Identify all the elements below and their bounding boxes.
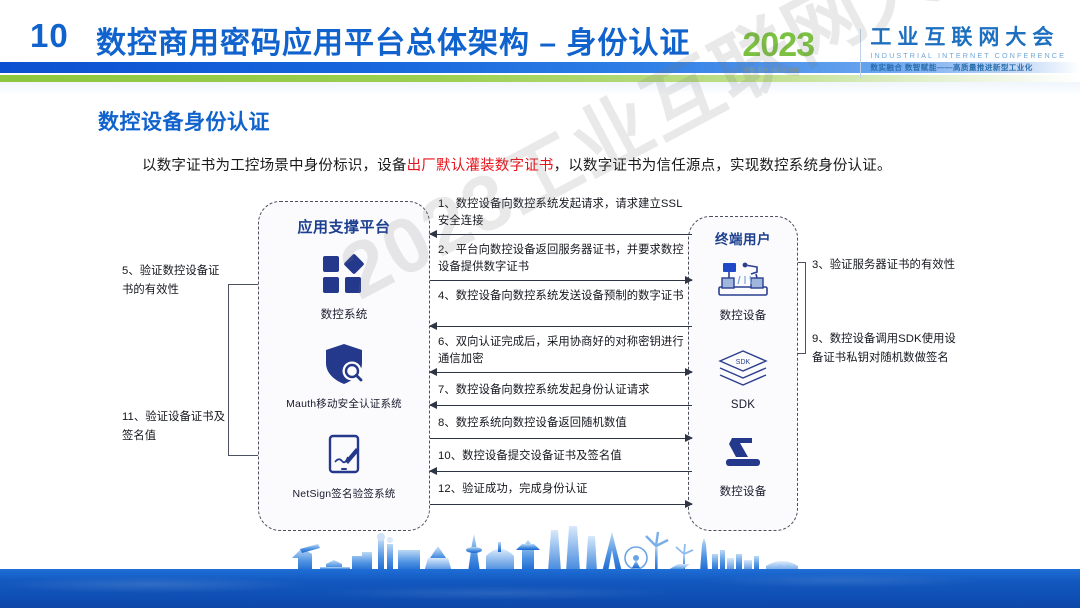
flow-step-1-label: 1、数控设备向数控系统发起请求，请求建立SSL安全连接 bbox=[438, 196, 690, 230]
node-sdk: SDK SDK bbox=[689, 349, 797, 411]
lead-highlight: 出厂默认灌装数字证书 bbox=[407, 158, 554, 174]
flow-arrow-4 bbox=[430, 326, 692, 327]
right-panel-title: 终端用户 bbox=[689, 228, 797, 248]
conference-logo: 2023 中国·苏州 8月18-19日 工业互联网大会 INDUSTRIAL I… bbox=[740, 26, 1066, 82]
logo-year: 2023 bbox=[740, 26, 858, 64]
flow-step-4-label: 4、数控设备向数控系统发送设备预制的数字证书 bbox=[438, 288, 690, 305]
logo-divider bbox=[860, 29, 861, 78]
left-panel-title: 应用支撑平台 bbox=[259, 216, 429, 237]
node-cnc-device-1-label: 数控设备 bbox=[689, 307, 797, 323]
note-step-9: 9、数控设备调用SDK使用设备证书私钥对随机数做签名 bbox=[812, 330, 962, 368]
logo-date: 中国·苏州 8月18-19日 bbox=[740, 66, 858, 74]
node-mauth: Mauth移动安全认证系统 bbox=[259, 342, 429, 411]
section-lead: 以数字证书为工控场景中身份标识，设备出厂默认灌装数字证书，以数字证书为信任源点，… bbox=[142, 154, 1022, 175]
cnc-machine-icon bbox=[715, 259, 771, 302]
note-step-11: 11、验证设备证书及签名值 bbox=[122, 408, 226, 446]
end-user-panel: 终端用户 数控设备 bbox=[688, 216, 798, 531]
flow-arrow-8 bbox=[430, 438, 692, 439]
footer-decoration bbox=[0, 528, 1080, 608]
note-step-5: 5、验证数控设备证书的有效性 bbox=[122, 262, 226, 300]
flow-step-12-label: 12、验证成功，完成身份认证 bbox=[438, 481, 690, 498]
logo-name-cn: 工业互联网大会 bbox=[870, 26, 1066, 50]
flow-step-7-label: 7、数控设备向数控系统发起身份认证请求 bbox=[438, 382, 690, 399]
logo-text-block: 工业互联网大会 INDUSTRIAL INTERNET CONFERENCE 数… bbox=[870, 26, 1066, 73]
node-mauth-label: Mauth移动安全认证系统 bbox=[259, 396, 429, 411]
flow-arrow-10 bbox=[430, 471, 692, 472]
flow-step-8-label: 8、数控系统向数控设备返回随机数值 bbox=[438, 415, 690, 432]
node-netsign-label: NetSign签名验签系统 bbox=[259, 486, 429, 501]
logo-tagline: 数实融合 数智赋能——高质量推进新型工业化 bbox=[870, 62, 1066, 73]
lead-part-2: ，以数字证书为信任源点，实现数控系统身份认证。 bbox=[554, 158, 892, 174]
application-support-platform-panel: 应用支撑平台 数控系统 Mauth移动 bbox=[258, 201, 430, 531]
robot-arm-icon bbox=[718, 435, 768, 478]
sea-band bbox=[0, 569, 1080, 608]
city-skyline-icon bbox=[0, 524, 1080, 574]
logo-name-en: INDUSTRIAL INTERNET CONFERENCE bbox=[870, 50, 1066, 61]
note-step-3: 3、验证服务器证书的有效性 bbox=[812, 256, 962, 275]
node-cnc-device-2-label: 数控设备 bbox=[689, 483, 797, 499]
squares-diamond-icon bbox=[321, 254, 367, 301]
flow-arrow-12 bbox=[430, 504, 692, 505]
node-sdk-label: SDK bbox=[689, 399, 797, 411]
flow-step-6-label: 6、双向认证完成后，采用协商好的对称密钥进行通信加密 bbox=[438, 334, 690, 368]
sdk-layers-icon: SDK bbox=[717, 349, 769, 394]
flow-arrow-7 bbox=[430, 405, 692, 406]
node-cnc-device-1: 数控设备 bbox=[689, 259, 797, 323]
flow-arrow-1 bbox=[430, 234, 692, 235]
node-cnc-device-2: 数控设备 bbox=[689, 435, 797, 499]
header-fade bbox=[0, 82, 1080, 96]
left-bracket bbox=[228, 284, 262, 456]
page-header: 10 数控商用密码应用平台总体架构 – 身份认证 2023 中国·苏州 8月18… bbox=[0, 0, 1080, 96]
node-netsign: NetSign签名验签系统 bbox=[259, 434, 429, 501]
flow-arrow-6 bbox=[430, 372, 692, 373]
node-cnc-system: 数控系统 bbox=[259, 254, 429, 322]
flow-arrow-2 bbox=[430, 280, 692, 281]
signature-tablet-icon bbox=[327, 434, 361, 481]
page-number: 10 bbox=[30, 17, 69, 55]
node-cnc-system-label: 数控系统 bbox=[259, 306, 429, 322]
shield-search-icon bbox=[322, 342, 366, 391]
page-title: 数控商用密码应用平台总体架构 – 身份认证 bbox=[96, 18, 690, 62]
logo-year-block: 2023 中国·苏州 8月18-19日 bbox=[740, 26, 858, 82]
architecture-diagram: 应用支撑平台 数控系统 Mauth移动 bbox=[0, 190, 1080, 540]
svg-text:SDK: SDK bbox=[736, 359, 751, 366]
flow-step-2-label: 2、平台向数控设备返回服务器证书，并要求数控设备提供数字证书 bbox=[438, 242, 690, 276]
flow-step-10-label: 10、数控设备提交设备证书及签名值 bbox=[438, 448, 690, 465]
lead-part-1: 以数字证书为工控场景中身份标识，设备 bbox=[142, 158, 407, 174]
section-title: 数控设备身份认证 bbox=[98, 106, 270, 136]
flow-sequence: 1、数控设备向数控系统发起请求，请求建立SSL安全连接 2、平台向数控设备返回服… bbox=[430, 190, 692, 540]
